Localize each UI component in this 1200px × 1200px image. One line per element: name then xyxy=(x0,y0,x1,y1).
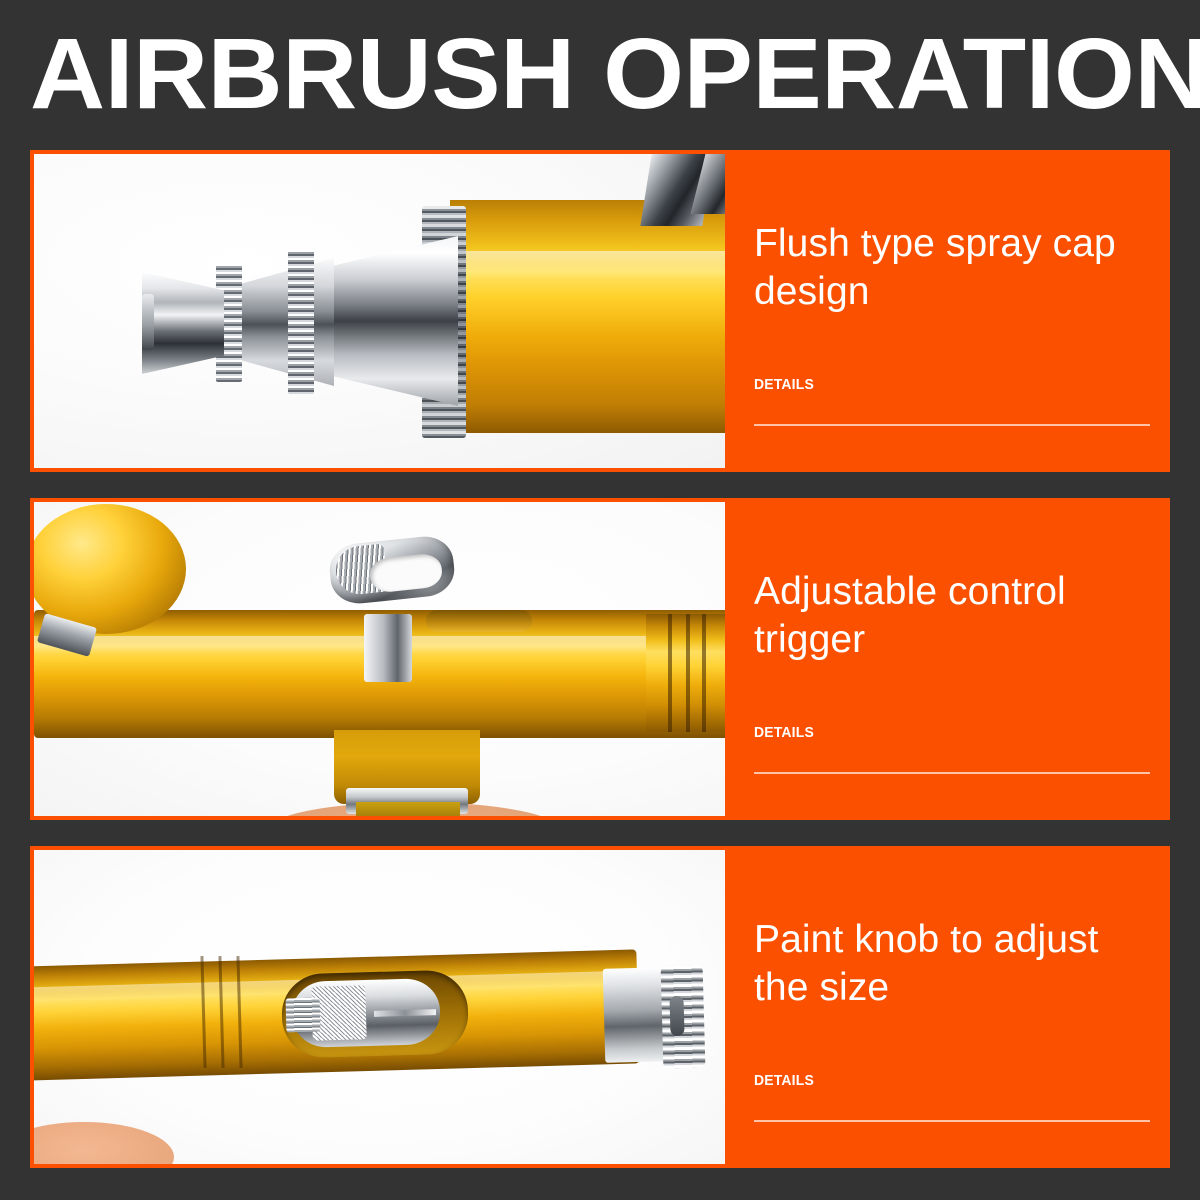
chrome-end-cap-shape xyxy=(603,967,668,1063)
mid-knurled-ring-shape xyxy=(288,250,314,394)
details-label-2[interactable]: DETAILS xyxy=(754,724,814,741)
feature-panel-3: Paint knob to adjust the size DETAILS xyxy=(30,846,1170,1168)
feature-text-2: Adjustable control trigger DETAILS xyxy=(725,502,1166,816)
barrel-ring-shape xyxy=(702,614,706,732)
feature-heading-2: Adjustable control trigger xyxy=(754,568,1154,664)
details-label-3[interactable]: DETAILS xyxy=(754,1072,814,1089)
feature-panel-1: Flush type spray cap design DETAILS xyxy=(30,150,1170,472)
nozzle-opening-shape xyxy=(142,294,154,350)
gold-body-shape xyxy=(450,200,725,433)
end-cap-opening-shape xyxy=(669,996,684,1036)
airbrush-trigger-photo xyxy=(34,502,725,816)
airbrush-paint-knob-photo xyxy=(34,850,725,1164)
trigger-arm-shape xyxy=(364,614,412,682)
paint-knob-screw-shape xyxy=(286,998,321,1033)
trigger-slot-shape xyxy=(426,610,532,632)
airbrush-nozzle-spray-cap-photo xyxy=(34,154,725,468)
barrel-ring-shape xyxy=(668,614,672,732)
details-divider-2 xyxy=(754,772,1150,774)
infographic-page: AIRBRUSH OPERATION Flush type spray cap … xyxy=(0,0,1200,1200)
details-divider-3 xyxy=(754,1120,1150,1122)
barrel-ring-shape xyxy=(686,614,690,732)
page-title: AIRBRUSH OPERATION xyxy=(30,18,1200,130)
feature-panel-2: Adjustable control trigger DETAILS xyxy=(30,498,1170,820)
details-label-1[interactable]: DETAILS xyxy=(754,376,814,393)
details-divider-1 xyxy=(754,424,1150,426)
feature-text-3: Paint knob to adjust the size DETAILS xyxy=(725,850,1166,1164)
feature-text-1: Flush type spray cap design DETAILS xyxy=(725,154,1166,468)
chrome-nut-shape xyxy=(356,802,460,816)
feature-heading-1: Flush type spray cap design xyxy=(754,220,1154,316)
feature-heading-3: Paint knob to adjust the size xyxy=(754,916,1154,1012)
